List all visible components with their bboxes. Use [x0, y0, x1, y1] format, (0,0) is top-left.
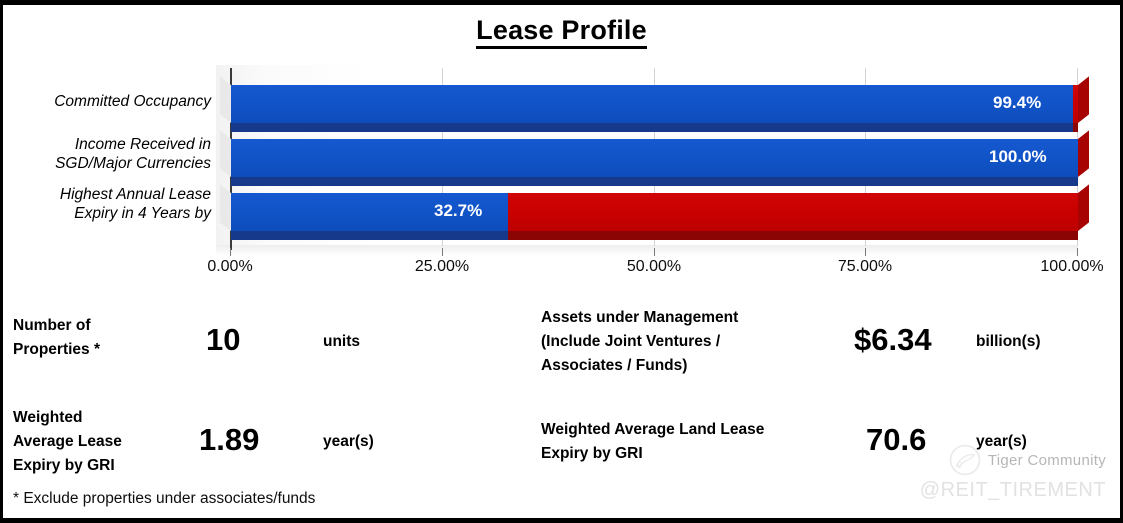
metric-unit-weighted-average-lease-expiry: year(s) [323, 433, 374, 451]
metric-value-weighted-average-land-lease-expiry: 70.6 [866, 422, 926, 458]
bar-bottom-face-remainder-0 [1073, 123, 1078, 132]
metric-unit-weighted-average-land-lease-expiry: year(s) [976, 433, 1027, 451]
bar-segment-value-0 [231, 85, 1073, 123]
bar-data-label-1: 100.0% [989, 147, 1047, 167]
metric-label-weighted-average-lease-expiry: Weighted Average Lease Expiry by GRI [13, 406, 183, 478]
metric-label-2-line-2: Expiry by GRI [13, 454, 183, 478]
bar-bottom-face-value-1 [231, 177, 1078, 186]
metric-value-assets-under-management: $6.34 [854, 322, 932, 358]
bar-bottom-face-value-2 [231, 231, 508, 240]
category-label-2-line-1: Expiry in 4 Years by [11, 204, 211, 223]
page-title: Lease Profile [3, 15, 1120, 46]
metric-label-1-line-1: (Include Joint Ventures / [541, 330, 831, 354]
metric-unit-number-of-properties: units [323, 333, 360, 351]
bar-segment-value-1 [231, 139, 1078, 177]
bar-segment-remainder-2 [508, 193, 1078, 231]
metric-label-weighted-average-land-lease-expiry: Weighted Average Land Lease Expiry by GR… [541, 418, 841, 466]
metric-label-0-line-0: Number of [13, 314, 173, 338]
category-label-1-line-1: SGD/Major Currencies [11, 154, 211, 173]
metric-label-1-line-0: Assets under Management [541, 306, 831, 330]
metric-value-weighted-average-lease-expiry: 1.89 [199, 422, 259, 458]
watermark: Tiger Community @REIT_TIREMENT [920, 443, 1106, 502]
tick-100 [1077, 248, 1078, 256]
watermark-handle: @REIT_TIREMENT [920, 479, 1106, 502]
bar-data-label-2: 32.7% [434, 201, 482, 221]
x-tick-label-4: 100.00% [1012, 258, 1123, 276]
watermark-name: Tiger Community [988, 452, 1106, 469]
metric-value-number-of-properties: 10 [206, 322, 240, 358]
lease-profile-slide: Lease Profile Committed Occupancy Income… [0, 0, 1123, 523]
bar-right-face-2 [1078, 184, 1089, 231]
lease-profile-chart: Committed Occupancy Income Received in S… [3, 60, 1120, 285]
category-label-0-line-0: Committed Occupancy [11, 92, 211, 111]
metric-label-1-line-2: Associates / Funds) [541, 354, 831, 378]
metric-label-2-line-0: Weighted [13, 406, 183, 430]
category-label-1-line-0: Income Received in [11, 135, 211, 154]
bar-row-income-received[interactable]: 100.0% [231, 139, 1078, 183]
bar-bottom-face-value-0 [231, 123, 1073, 132]
metric-label-3-line-0: Weighted Average Land Lease [541, 418, 841, 442]
x-tick-label-3: 75.00% [805, 258, 925, 276]
category-label-2: Highest Annual Lease Expiry in 4 Years b… [11, 185, 211, 223]
bar-left-face-0 [220, 76, 231, 123]
bar-bottom-face-remainder-2 [508, 231, 1078, 240]
category-label-1: Income Received in SGD/Major Currencies [11, 135, 211, 173]
metric-label-number-of-properties: Number of Properties * [13, 314, 173, 362]
bar-right-face-1 [1078, 130, 1089, 177]
bar-left-face-2 [220, 184, 231, 231]
x-tick-label-2: 50.00% [594, 258, 714, 276]
category-label-2-line-0: Highest Annual Lease [11, 185, 211, 204]
bar-left-face-1 [220, 130, 231, 177]
tick-25 [442, 248, 443, 256]
footnote: * Exclude properties under associates/fu… [13, 490, 315, 508]
tick-0 [230, 248, 231, 256]
bar-row-highest-annual-lease-expiry[interactable]: 32.7% [231, 193, 1078, 237]
chart-floor [216, 245, 1078, 256]
bar-right-face-0 [1078, 76, 1089, 123]
bar-row-committed-occupancy[interactable]: 99.4% [231, 85, 1078, 129]
category-label-0: Committed Occupancy [11, 92, 211, 111]
page-title-text: Lease Profile [476, 15, 647, 49]
metric-label-0-line-1: Properties * [13, 338, 173, 362]
x-tick-label-0: 0.00% [170, 258, 290, 276]
bar-data-label-0: 99.4% [993, 93, 1041, 113]
metric-label-2-line-1: Average Lease [13, 430, 183, 454]
tick-50 [654, 248, 655, 256]
metric-label-assets-under-management: Assets under Management (Include Joint V… [541, 306, 831, 378]
tick-75 [865, 248, 866, 256]
metric-label-3-line-1: Expiry by GRI [541, 442, 841, 466]
metric-unit-assets-under-management: billion(s) [976, 333, 1041, 351]
x-tick-label-1: 25.00% [382, 258, 502, 276]
